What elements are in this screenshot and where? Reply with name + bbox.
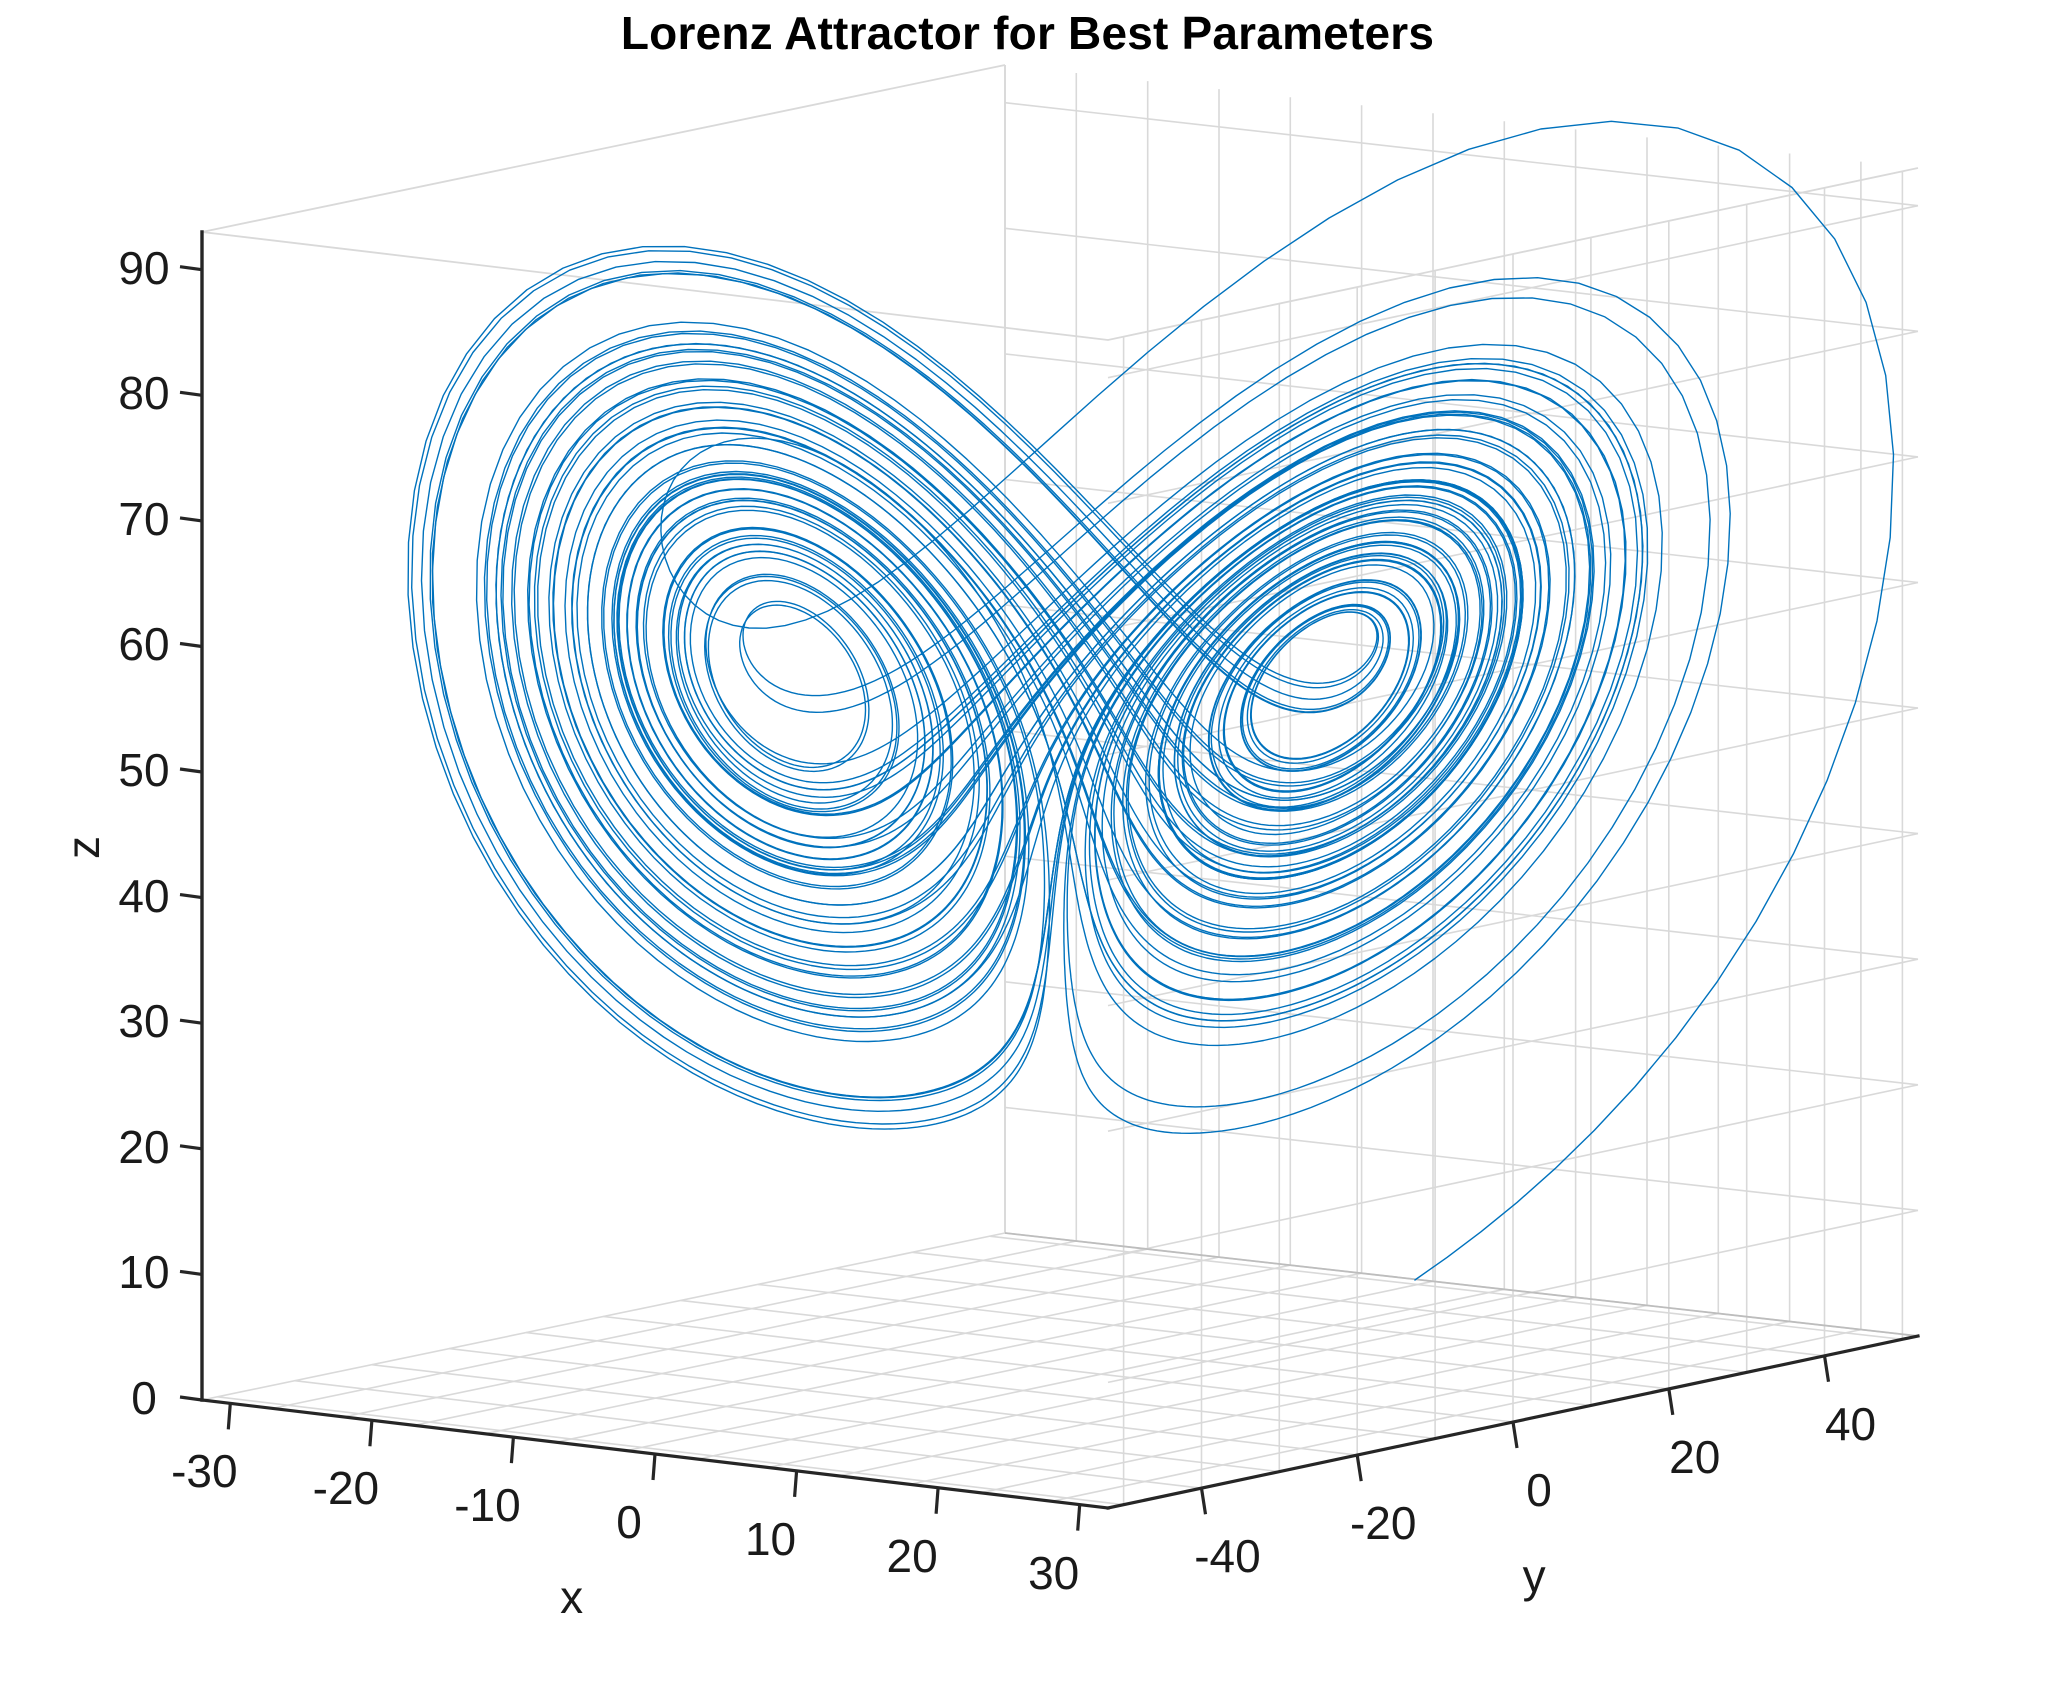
plot-axes	[0, 0, 2055, 1698]
x-tick-label: 10	[745, 1512, 796, 1566]
z-tick-label: 90	[118, 241, 169, 295]
z-tick-label: 80	[118, 366, 169, 420]
z-tick-label: 60	[118, 617, 169, 671]
z-tick-label: 20	[118, 1120, 169, 1174]
x-tick-label: 30	[1028, 1546, 1079, 1600]
y-tick-label: 40	[1825, 1397, 1876, 1451]
z-tick-label: 30	[118, 994, 169, 1048]
y-axis-label: y	[1523, 1549, 1546, 1603]
x-tick-label: 20	[887, 1529, 938, 1583]
x-tick-label: -30	[171, 1444, 237, 1498]
z-tick-label: 70	[118, 492, 169, 546]
y-tick-label: 20	[1669, 1430, 1720, 1484]
x-tick-label: -20	[313, 1461, 379, 1515]
z-tick-label: 40	[118, 869, 169, 923]
y-tick-label: -40	[1194, 1529, 1260, 1583]
y-tick-label: 0	[1526, 1463, 1552, 1517]
x-tick-label: 0	[616, 1495, 642, 1549]
x-axis-label: x	[560, 1570, 583, 1624]
axis-lines	[202, 232, 1918, 1508]
figure-canvas: Lorenz Attractor for Best Parameters 010…	[0, 0, 2055, 1698]
x-tick-label: -10	[454, 1478, 520, 1532]
z-axis-label: z	[56, 836, 110, 859]
z-tick-label: 50	[118, 743, 169, 797]
z-tick-label: 10	[118, 1245, 169, 1299]
z-tick-label: 0	[131, 1371, 157, 1425]
y-tick-label: -20	[1350, 1496, 1416, 1550]
data-series	[408, 121, 1893, 1280]
